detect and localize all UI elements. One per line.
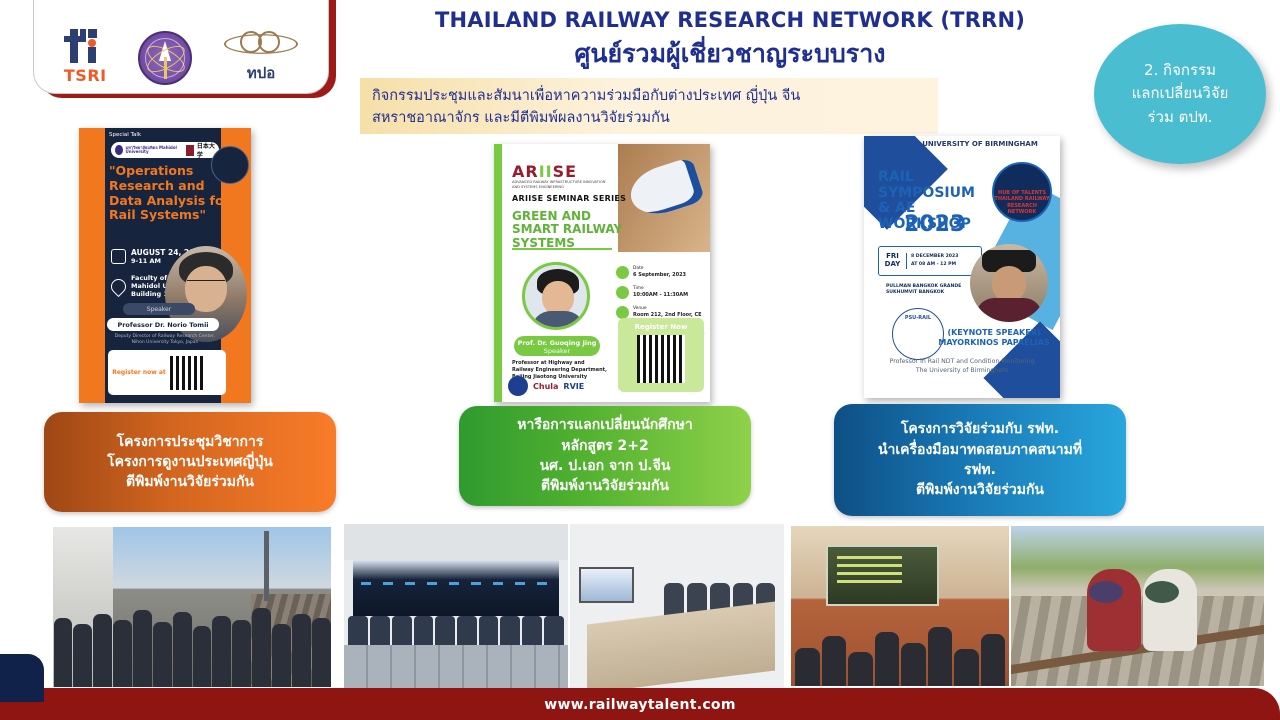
poster2-speaker-nameplate: Prof. Dr. Guoqing Jing Speaker bbox=[514, 336, 600, 356]
caption2-line-1: หารือการแลกเปลี่ยนนักศึกษา bbox=[517, 415, 692, 435]
poster2-venue-label: Venue bbox=[633, 306, 647, 311]
qr-code-icon bbox=[637, 335, 685, 383]
poster2-date-row: Date 6 September, 2023 bbox=[616, 266, 706, 279]
poster3-hub-badge-label: HUB OF TALENTS THAILAND RAILWAY RESEARCH… bbox=[994, 190, 1049, 215]
poster2-speaker-label: Speaker bbox=[514, 347, 600, 355]
photo-control-room bbox=[343, 523, 569, 689]
poster3-keynote-name: MAYORKINOS PAPAELIAS bbox=[936, 338, 1052, 348]
caption3-line-3: รฟท. bbox=[964, 460, 996, 480]
poster3-date-box: FRI DAY 8 DECEMBER 2023 AT 08 AM - 12 PM bbox=[878, 246, 982, 276]
poster2-footer-logos: Chula RVIE bbox=[508, 376, 584, 396]
mhesi-seal-logo bbox=[138, 31, 192, 85]
mhesi-seal-icon bbox=[138, 31, 192, 85]
poster3-keynote-role: Professor in Rail NDT and Condition Moni… bbox=[876, 358, 1048, 367]
callout-line-1: กิจกรรมประชุมและสัมนาเพื่อหาความร่วมมือก… bbox=[372, 85, 926, 107]
photo-group-railway-visit bbox=[52, 526, 332, 688]
callout-line-2: สหราชอาณาจักร และมีตีพิมพ์ผลงานวิจัยร่วม… bbox=[372, 107, 926, 129]
nihon-logo-icon bbox=[186, 145, 194, 156]
badge-line-1: 2. กิจกรรม bbox=[1144, 62, 1216, 79]
tpo-mark-icon bbox=[224, 22, 298, 60]
badge-line-2: แลกเปลี่ยนวิจัย bbox=[1132, 85, 1229, 102]
poster3-university: UNIVERSITY OF BIRMINGHAM bbox=[920, 140, 1040, 148]
photo-meeting-room bbox=[569, 523, 785, 689]
poster2-title: GREEN AND SMART RAILWAY SYSTEMS bbox=[512, 210, 624, 250]
poster-rail-symposium-2023[interactable]: UNIVERSITY OF BIRMINGHAM RAIL SYMPOSIUM … bbox=[864, 136, 1060, 398]
clock-icon bbox=[616, 286, 629, 299]
poster2-speaker-name: Prof. Dr. Guoqing Jing bbox=[514, 339, 600, 347]
poster2-time-row: Time 10:00AM - 11:30AM bbox=[616, 286, 706, 299]
poster3-keynote-label: (KEYNOTE SPEAKER) bbox=[936, 328, 1052, 338]
tsri-logo: TSRI bbox=[64, 29, 107, 85]
poster2-brand-tagline: ADVANCED RAILWAY INFRASTRUCTURE INNOVATI… bbox=[512, 180, 608, 190]
poster1-special-talk-label: Special Talk bbox=[109, 132, 141, 138]
activity-callout: กิจกรรมประชุมและสัมนาเพื่อหาความร่วมมือก… bbox=[360, 78, 938, 134]
tpo-logo: ทปอ bbox=[224, 22, 298, 85]
hub-of-talents-badge-icon: HUB OF TALENTS THAILAND RAILWAY RESEARCH… bbox=[992, 162, 1052, 222]
caption2-line-2: หลักสูตร 2+2 bbox=[561, 436, 649, 456]
train-icon bbox=[625, 156, 706, 221]
poster3-speaker-photo bbox=[970, 244, 1048, 322]
poster3-keynote-details: Professor in Rail NDT and Condition Moni… bbox=[876, 358, 1048, 375]
tsri-mark-icon bbox=[64, 29, 106, 63]
poster2-register-box[interactable]: Register Now bbox=[618, 318, 704, 392]
poster2-time-label: Time bbox=[633, 286, 644, 291]
caption2-line-3: นศ. ป.เอก จาก ป.จีน bbox=[540, 456, 671, 476]
poster1-register-label: Register now at bbox=[108, 369, 170, 376]
logo-panel: TSRI ทปอ bbox=[33, 0, 329, 94]
poster3-venue: PULLMAN BANGKOK GRANDE SUKHUMVIT BANGKOK bbox=[886, 284, 972, 296]
poster1-speaker-affiliation: Deputy Director of Railway Research Cent… bbox=[109, 334, 221, 346]
partner-logo-icon bbox=[508, 376, 528, 396]
poster1-org-logos: มหาวิทยาลัยมหิดล Mahidol University 日本大学 bbox=[111, 142, 219, 158]
poster3-keynote: (KEYNOTE SPEAKER) MAYORKINOS PAPAELIAS bbox=[936, 328, 1052, 347]
poster3-title-line-1: RAIL SYMPOSIUM bbox=[878, 170, 996, 201]
poster3-year: 2023 bbox=[904, 212, 965, 237]
footer-accent-shape bbox=[0, 654, 44, 702]
poster2-register-label: Register Now bbox=[618, 323, 704, 331]
caption3-line-4: ตีพิมพ์งานวิจัยร่วมกัน bbox=[916, 480, 1044, 500]
poster1-time: 9-11 AM bbox=[131, 257, 161, 265]
footer-website[interactable]: www.railwaytalent.com bbox=[0, 697, 1280, 713]
poster2-date: 6 September, 2023 bbox=[633, 272, 686, 278]
badge-line-3: ร่วม ตปท. bbox=[1147, 109, 1212, 126]
caption3-line-1: โครงการวิจัยร่วมกับ รฟท. bbox=[901, 419, 1059, 439]
poster2-time: 10:00AM - 11:30AM bbox=[633, 292, 688, 298]
poster2-speaker-photo bbox=[522, 262, 590, 330]
caption1-line-2: โครงการดูงานประเทศญี่ปุ่น bbox=[107, 452, 273, 472]
photo-seminar-hall bbox=[790, 525, 1010, 687]
poster-arise-green-smart[interactable]: ARIISE ADVANCED RAILWAY INFRASTRUCTURE I… bbox=[494, 144, 710, 402]
poster1-title: "Operations Research and Data Analysis f… bbox=[109, 164, 231, 223]
section-badge: 2. กิจกรรม แลกเปลี่ยนวิจัย ร่วม ตปท. bbox=[1094, 24, 1266, 164]
caption1-line-1: โครงการประชุมวิชาการ bbox=[117, 432, 264, 452]
poster1-register-box[interactable]: Register now at bbox=[108, 350, 226, 395]
header-title-th: ศูนย์รวมผู้เชี่ยวชาญระบบราง bbox=[350, 34, 1110, 74]
caption3-line-2: นำเครื่องมือมาทดสอบภาคสนามที่ bbox=[878, 440, 1082, 460]
poster3-day: FRI DAY bbox=[879, 253, 907, 268]
caption-srt-joint-research: โครงการวิจัยร่วมกับ รฟท. นำเครื่องมือมาท… bbox=[834, 404, 1126, 516]
location-pin-icon bbox=[108, 276, 129, 297]
poster3-time: AT 08 AM - 12 PM bbox=[911, 262, 956, 267]
calendar-icon bbox=[111, 249, 126, 264]
tsri-logo-label: TSRI bbox=[64, 66, 107, 85]
poster-operations-research[interactable]: Special Talk มหาวิทยาลัยมหิดล Mahidol Un… bbox=[79, 128, 251, 403]
caption-japan-conference: โครงการประชุมวิชาการ โครงการดูงานประเทศญ… bbox=[44, 412, 336, 512]
caption1-line-3: ตีพิมพ์งานวิจัยร่วมกัน bbox=[126, 472, 254, 492]
poster2-brand: ARIISE bbox=[512, 162, 577, 181]
poster2-left-band bbox=[494, 144, 502, 402]
poster3-keynote-affiliation: The University of Birmingham bbox=[876, 367, 1048, 376]
poster1-org1-label: มหาวิทยาลัยมหิดล Mahidol University bbox=[126, 146, 183, 155]
caption2-line-4: ตีพิมพ์งานวิจัยร่วมกัน bbox=[541, 476, 669, 496]
poster2-divider bbox=[512, 248, 612, 250]
poster2-series: ARIISE SEMINAR SERIES bbox=[512, 194, 626, 203]
poster2-date-label: Date bbox=[633, 266, 644, 271]
poster1-left-band bbox=[79, 128, 105, 403]
mahidol-logo-icon bbox=[115, 145, 123, 155]
poster3-date: 8 DECEMBER 2023 bbox=[911, 254, 958, 259]
caption-student-exchange: หารือการแลกเปลี่ยนนักศึกษา หลักสูตร 2+2 … bbox=[459, 406, 751, 506]
page-title: THAILAND RAILWAY RESEARCH NETWORK (TRRN)… bbox=[350, 8, 1110, 74]
poster1-speaker-label: Speaker bbox=[123, 303, 195, 315]
photo-track-inspection bbox=[1010, 525, 1265, 687]
header-title-en: THAILAND RAILWAY RESEARCH NETWORK (TRRN) bbox=[350, 8, 1110, 32]
poster1-speaker-name: Professor Dr. Norio Tomii bbox=[107, 318, 219, 331]
qr-code-icon bbox=[170, 356, 204, 390]
calendar-icon bbox=[616, 266, 629, 279]
tpo-logo-label: ทปอ bbox=[247, 61, 275, 85]
